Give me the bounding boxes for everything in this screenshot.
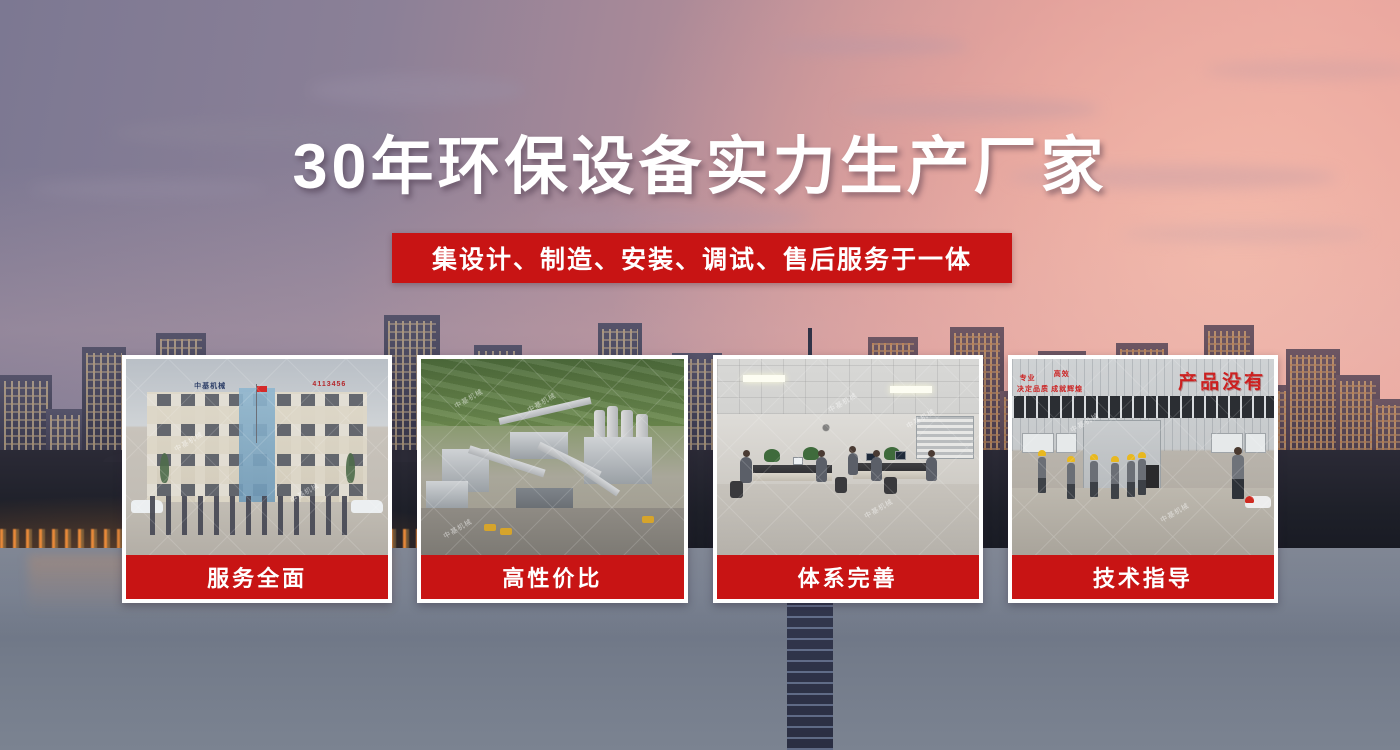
factory-slogan-main: 产品没有 — [1178, 367, 1266, 394]
card-caption-text: 服务全面 — [207, 561, 307, 593]
subtitle-bar: 集设计、制造、安装、调试、售后服务于一体 — [392, 233, 1012, 283]
factory-slogan-small: 专业 — [1020, 373, 1036, 383]
supervisor-figure — [1232, 455, 1244, 499]
cloud-icon — [308, 75, 528, 105]
card-photo-office-building: 中基机械 4113456 中基机械 中基机械 — [126, 359, 388, 555]
card-caption-text: 技术指导 — [1093, 561, 1193, 593]
card-photo-factory-yard: 产品没有 专业 高效 决定品质 成就辉煌 — [1012, 359, 1274, 555]
cloud-icon — [532, 210, 812, 226]
cloud-icon — [1204, 60, 1400, 80]
card-caption-text: 体系完善 — [798, 561, 898, 593]
feature-card[interactable]: 中基机械 中基机械 中基机械 体系完善 — [713, 355, 983, 603]
flag-icon — [257, 386, 267, 392]
cloud-icon — [1120, 225, 1370, 243]
car-icon — [351, 500, 383, 513]
card-caption-bar: 高性价比 — [421, 555, 683, 599]
card-caption-bar: 服务全面 — [126, 555, 388, 599]
feature-card[interactable]: 产品没有 专业 高效 决定品质 成就辉煌 — [1008, 355, 1278, 603]
cloud-icon — [770, 38, 970, 54]
page-title: 30年环保设备实力生产厂家 — [0, 134, 1400, 200]
card-caption-bar: 技术指导 — [1012, 555, 1274, 599]
card-photo-office-interior: 中基机械 中基机械 中基机械 — [717, 359, 979, 555]
card-photo-aerial-plant: 中基机械 中基机械 中基机械 — [421, 359, 683, 555]
building-signage-text: 中基机械 — [194, 381, 226, 391]
red-helmet-icon — [1245, 496, 1254, 503]
feature-card-list: 中基机械 4113456 中基机械 中基机械 服务全面 — [122, 355, 1278, 603]
factory-slogan-small: 高效 — [1054, 369, 1070, 379]
factory-slogan-small: 成就辉煌 — [1051, 384, 1083, 394]
promo-banner: 30年环保设备实力生产厂家 集设计、制造、安装、调试、售后服务于一体 中基机械 … — [0, 0, 1400, 750]
wall-logo-icon — [811, 420, 841, 442]
feature-card[interactable]: 中基机械 中基机械 中基机械 高性价比 — [417, 355, 687, 603]
building-phone-text: 4113456 — [312, 381, 346, 388]
feature-card[interactable]: 中基机械 4113456 中基机械 中基机械 服务全面 — [122, 355, 392, 603]
subtitle-text: 集设计、制造、安装、调试、售后服务于一体 — [432, 240, 972, 276]
staff-row — [150, 496, 352, 535]
cloud-icon — [840, 98, 1100, 120]
card-caption-text: 高性价比 — [502, 561, 602, 593]
card-caption-bar: 体系完善 — [717, 555, 979, 599]
factory-slogan-small: 决定品质 — [1017, 384, 1049, 394]
